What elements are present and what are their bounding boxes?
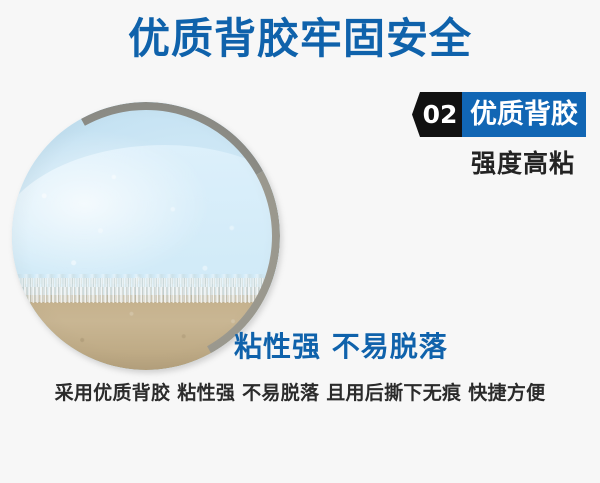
promo-page: 优质背胶牢固安全 02 优质背胶 强度高粘 粘性强 不易脱落 采用优质背胶 粘性…: [0, 0, 600, 483]
badge-row: 02 优质背胶: [412, 92, 586, 137]
badge-title: 优质背胶: [462, 92, 586, 137]
feature-badge: 02 优质背胶 强度高粘: [412, 92, 588, 192]
sub-headline: 粘性强 不易脱落: [234, 325, 448, 365]
page-title: 优质背胶牢固安全: [0, 14, 600, 64]
badge-number: 02: [412, 92, 462, 137]
badge-subtitle: 强度高粘: [460, 144, 586, 180]
caption-text: 采用优质背胶 粘性强 不易脱落 且用后撕下无痕 快捷方便: [0, 378, 600, 405]
